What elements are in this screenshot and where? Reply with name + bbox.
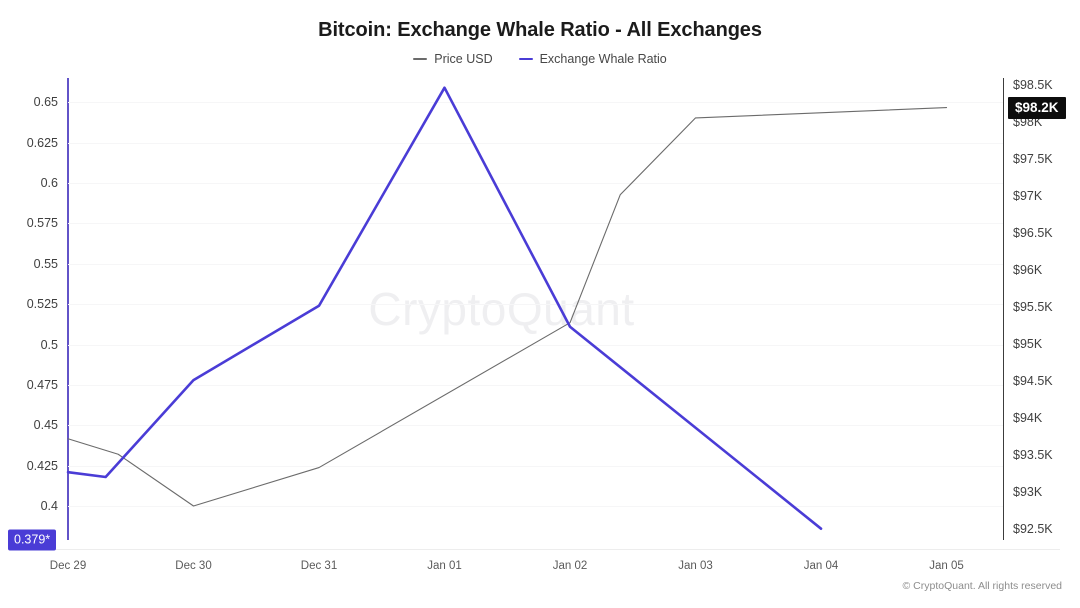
- series-lines: [0, 0, 1080, 608]
- footer-credit: © CryptoQuant. All rights reserved: [903, 580, 1062, 592]
- chart-container: Bitcoin: Exchange Whale Ratio - All Exch…: [0, 0, 1080, 608]
- right-value-badge: $98.2K: [1008, 97, 1066, 119]
- series-line-exchange-whale-ratio: [68, 88, 821, 529]
- series-line-price-usd: [68, 108, 947, 506]
- left-value-badge: 0.379*: [8, 530, 56, 551]
